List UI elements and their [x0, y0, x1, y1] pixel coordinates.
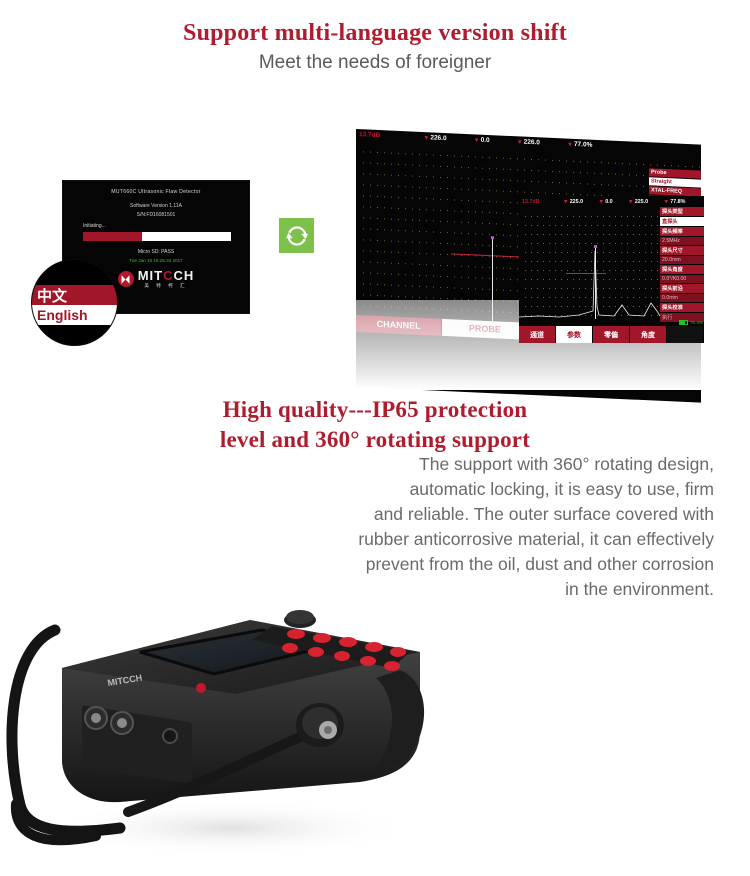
splash-progress-fill	[83, 232, 142, 241]
splash-brand-wordmark: MITCCH	[138, 269, 195, 282]
scope-cn-parameter-menu: 探头类型 直探头 探头频率 2.5MHz 探头尺寸 20.0mm 探头角度 0.…	[660, 207, 704, 323]
body-line-1: automatic locking, it is easy to use, fi…	[314, 477, 714, 502]
scope-cn-menu-label-3[interactable]: 探头角度	[660, 265, 704, 275]
scope-cn-reading-3: 225.0	[635, 199, 649, 205]
splash-sd-check: Micro SD: PASS	[63, 249, 249, 255]
scope-en-tab-probe[interactable]: PROBE	[442, 319, 528, 340]
body-line-2: and reliable. The outer surface covered …	[314, 502, 714, 527]
scope-en-gain: 13.7dB	[359, 131, 380, 139]
headline-secondary-line-1: High quality---IP65 protection	[0, 395, 750, 425]
scope-cn-menu-label-5[interactable]: 探头校准	[660, 303, 704, 313]
marker-icon	[629, 200, 633, 204]
language-magnifier: 中文 English	[31, 259, 118, 346]
scope-en-reading-1: 226.0	[430, 134, 446, 142]
splash-progress-bar	[83, 232, 231, 241]
scope-cn-menu-label-4[interactable]: 探头前沿	[660, 284, 704, 294]
body-line-0: The support with 360° rotating design,	[314, 452, 714, 477]
headline-secondary: High quality---IP65 protection level and…	[0, 395, 750, 455]
marker-icon	[518, 140, 522, 144]
body-line-3: rubber anticorrosive material, it can ef…	[314, 527, 714, 552]
language-option-selected[interactable]: 中文	[32, 285, 117, 305]
splash-software-version: Software Version 1.11A	[63, 203, 249, 209]
scope-cn-tab-angle[interactable]: 角度	[630, 326, 667, 343]
refresh-sync-icon	[279, 218, 314, 253]
marker-icon	[564, 200, 568, 204]
scope-cn-tab-zero[interactable]: 零偏	[593, 326, 630, 343]
marker-icon	[424, 136, 428, 140]
headline-primary: Support multi-language version shift	[0, 20, 750, 47]
marker-icon	[568, 142, 572, 146]
language-option-english[interactable]: English	[32, 305, 117, 325]
language-option-selected-label: 中文	[32, 285, 67, 306]
headline-subtitle: Meet the needs of foreigner	[0, 52, 750, 74]
scope-en-echo-peak	[492, 239, 493, 322]
scope-cn-tabbar: 通道 参数 零偏 角度	[519, 326, 704, 343]
scope-cn-menu-value-0[interactable]: 直探头	[660, 217, 704, 227]
splash-status-label: Initiating...	[83, 223, 106, 229]
splash-serial-number: S/N:FD16081501	[63, 212, 249, 218]
scope-en-tab-channel[interactable]: CHANNEL	[356, 315, 442, 336]
marker-icon	[664, 200, 668, 204]
scope-cn-menu-label-0[interactable]: 探头类型	[660, 207, 704, 217]
marker-icon	[475, 138, 479, 142]
scope-cn-menu-value-4[interactable]: 0.0mm	[660, 294, 704, 303]
splash-model-title: MUT660C Ultrasonic Flaw Detector	[63, 189, 249, 195]
scope-cn-statusbar: 75.4%	[679, 320, 703, 325]
marker-icon	[599, 200, 603, 204]
body-line-4: prevent from the oil, dust and other cor…	[314, 552, 714, 577]
scope-cn-reading-1: 225.0	[570, 199, 584, 205]
scope-cn-reading-2: 0.0	[605, 199, 613, 205]
scope-en-reading-2: 0.0	[481, 137, 490, 144]
scope-cn-tab-channel[interactable]: 通道	[519, 326, 556, 343]
scope-cn-battery-level: 75.4%	[690, 320, 703, 325]
promo-page: Support multi-language version shift Mee…	[0, 0, 750, 876]
scope-cn-reading-4: 77.8%	[670, 199, 685, 205]
scope-cn-menu-label-1[interactable]: 探头频率	[660, 227, 704, 237]
product-photo: MITCCH	[0, 590, 450, 876]
scope-cn-top-readout: 13.7dB 225.0 0.0 225.0 77.8%	[519, 196, 704, 207]
scope-cn-tab-params[interactable]: 参数	[556, 326, 593, 343]
language-option-english-label: English	[32, 307, 88, 323]
scope-cn-gain: 13.7dB	[522, 199, 540, 205]
body-paragraph: The support with 360° rotating design, a…	[314, 452, 714, 602]
scope-cn-menu-value-2[interactable]: 20.0mm	[660, 256, 704, 265]
scope-cn-menu-value-3[interactable]: 0.0°/K0.00	[660, 275, 704, 284]
scope-cn-menu-value-1[interactable]: 2.5MHz	[660, 237, 704, 246]
scope-cn-tab-empty	[667, 326, 704, 343]
ultrasonic-display-chinese: 13.7dB 225.0 0.0 225.0 77.8% 探头类型 直探头 探头…	[519, 196, 704, 343]
mitcch-bowtie-icon	[118, 271, 134, 287]
scope-en-reading-3: 226.0	[524, 139, 540, 147]
scope-en-reading-4: 77.0%	[574, 141, 592, 149]
splash-brand-chinese: 美 特 柯 汇	[144, 283, 187, 289]
scope-en-peak-marker	[491, 236, 494, 239]
scope-cn-menu-label-2[interactable]: 探头尺寸	[660, 246, 704, 256]
headline-secondary-line-2: level and 360° rotating support	[0, 425, 750, 455]
scope-cn-ascan-trace	[519, 207, 660, 319]
battery-icon	[679, 320, 688, 325]
